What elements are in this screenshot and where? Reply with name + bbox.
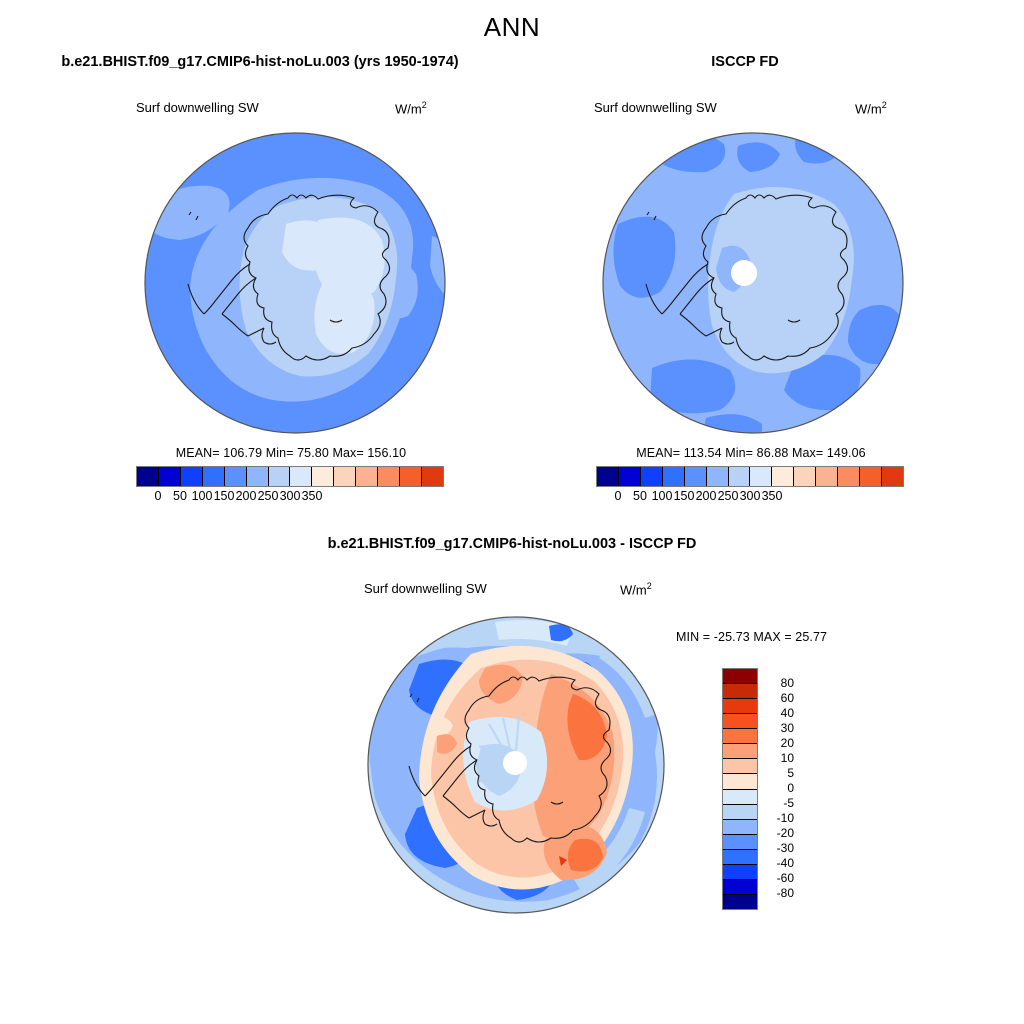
colorbar-swatch-11 [838, 467, 860, 486]
model-units-exponent: 2 [422, 100, 427, 110]
diff-colorbar-tick-2: 40 [764, 706, 794, 720]
model-panel-title: b.e21.BHIST.f09_g17.CMIP6-hist-noLu.003 … [30, 54, 490, 70]
diff-panel-title: b.e21.BHIST.f09_g17.CMIP6-hist-noLu.003 … [182, 536, 842, 552]
diff-colorbar-swatch-0 [723, 669, 757, 684]
colorbar-swatch-11 [378, 467, 400, 486]
colorbar-swatch-5 [247, 467, 269, 486]
diff-colorbar[interactable]: 80604030201050-5-10-20-30-40-60-80 [722, 668, 812, 908]
colorbar-swatch-7 [750, 467, 772, 486]
obs-units-exponent: 2 [882, 100, 887, 110]
colorbar-tick-3: 150 [674, 489, 695, 503]
colorbar-swatch-0 [137, 467, 159, 486]
diff-colorbar-swatch-12 [723, 850, 757, 865]
colorbar-tick-3: 150 [214, 489, 235, 503]
diff-colorbar-swatch-6 [723, 759, 757, 774]
diff-colorbar-swatch-13 [723, 865, 757, 880]
colorbar-tick-7: 350 [302, 489, 323, 503]
diff-colorbar-tick-10: -20 [764, 826, 794, 840]
diff-colorbar-tick-13: -60 [764, 871, 794, 885]
colorbar-tick-4: 200 [696, 489, 717, 503]
colorbar-swatch-9 [794, 467, 816, 486]
colorbar-swatch-1 [619, 467, 641, 486]
diff-pole-data-gap [503, 751, 527, 775]
diff-colorbar-tick-4: 20 [764, 736, 794, 750]
diff-colorbar-tick-3: 30 [764, 721, 794, 735]
diff-colorbar-swatches[interactable] [722, 668, 758, 910]
obs-colorbar-swatches[interactable] [596, 466, 904, 487]
colorbar-swatch-9 [334, 467, 356, 486]
colorbar-swatch-5 [707, 467, 729, 486]
obs-panel-title: ISCCP FD [590, 54, 900, 70]
diff-units-exponent: 2 [647, 581, 652, 591]
diff-colorbar-swatch-15 [723, 895, 757, 909]
main-title: ANN [0, 12, 1024, 43]
model-variable-label: Surf downwelling SW [136, 100, 259, 115]
diff-variable-label: Surf downwelling SW [364, 581, 487, 596]
colorbar-tick-0: 0 [615, 489, 622, 503]
model-colorbar-ticks: 050100150200250300350 [136, 487, 444, 507]
diff-colorbar-tick-11: -30 [764, 841, 794, 855]
model-units-text: W/m [395, 101, 422, 116]
diff-colorbar-swatch-2 [723, 699, 757, 714]
colorbar-swatch-6 [729, 467, 751, 486]
diff-colorbar-swatch-3 [723, 714, 757, 729]
diff-colorbar-ticks: 80604030201050-5-10-20-30-40-60-80 [764, 668, 804, 908]
colorbar-tick-4: 200 [236, 489, 257, 503]
obs-pole-data-gap [731, 260, 757, 286]
diff-colorbar-tick-7: 0 [764, 781, 794, 795]
diff-colorbar-swatch-11 [723, 835, 757, 850]
model-stats: MEAN= 106.79 Min= 75.80 Max= 156.10 [136, 446, 446, 460]
diff-colorbar-tick-8: -5 [764, 796, 794, 810]
model-map [140, 128, 450, 438]
obs-units-text: W/m [855, 101, 882, 116]
diff-stats: MIN = -25.73 MAX = 25.77 [676, 630, 827, 644]
colorbar-tick-6: 300 [280, 489, 301, 503]
colorbar-swatch-8 [772, 467, 794, 486]
colorbar-swatch-10 [356, 467, 378, 486]
diff-colorbar-tick-12: -40 [764, 856, 794, 870]
colorbar-swatch-13 [422, 467, 443, 486]
diff-colorbar-tick-5: 10 [764, 751, 794, 765]
model-colorbar[interactable]: 050100150200250300350 [136, 466, 444, 507]
diff-colorbar-swatch-7 [723, 774, 757, 789]
diff-colorbar-swatch-9 [723, 805, 757, 820]
colorbar-swatch-4 [225, 467, 247, 486]
colorbar-swatch-8 [312, 467, 334, 486]
diff-colorbar-swatch-5 [723, 744, 757, 759]
colorbar-swatch-2 [181, 467, 203, 486]
diff-units-label: W/m2 [620, 581, 652, 597]
diff-colorbar-tick-14: -80 [764, 886, 794, 900]
colorbar-swatch-10 [816, 467, 838, 486]
colorbar-tick-2: 100 [652, 489, 673, 503]
diff-colorbar-swatch-1 [723, 684, 757, 699]
diff-colorbar-swatch-10 [723, 820, 757, 835]
obs-stats: MEAN= 113.54 Min= 86.88 Max= 149.06 [596, 446, 906, 460]
colorbar-tick-5: 250 [718, 489, 739, 503]
diff-units-text: W/m [620, 582, 647, 597]
diff-colorbar-tick-1: 60 [764, 691, 794, 705]
diff-colorbar-swatch-8 [723, 790, 757, 805]
colorbar-swatch-0 [597, 467, 619, 486]
obs-colorbar-ticks: 050100150200250300350 [596, 487, 904, 507]
colorbar-swatch-7 [290, 467, 312, 486]
colorbar-tick-2: 100 [192, 489, 213, 503]
colorbar-tick-7: 350 [762, 489, 783, 503]
colorbar-swatch-3 [663, 467, 685, 486]
colorbar-tick-0: 0 [155, 489, 162, 503]
colorbar-swatch-12 [400, 467, 422, 486]
obs-map [598, 128, 908, 438]
colorbar-tick-5: 250 [258, 489, 279, 503]
diff-colorbar-swatch-14 [723, 880, 757, 895]
colorbar-tick-1: 50 [173, 489, 187, 503]
obs-colorbar[interactable]: 050100150200250300350 [596, 466, 904, 507]
diff-colorbar-tick-9: -10 [764, 811, 794, 825]
obs-variable-label: Surf downwelling SW [594, 100, 717, 115]
colorbar-swatch-2 [641, 467, 663, 486]
colorbar-tick-1: 50 [633, 489, 647, 503]
obs-units-label: W/m2 [855, 100, 887, 116]
colorbar-tick-6: 300 [740, 489, 761, 503]
diff-colorbar-swatch-4 [723, 729, 757, 744]
model-colorbar-swatches[interactable] [136, 466, 444, 487]
colorbar-swatch-1 [159, 467, 181, 486]
colorbar-swatch-4 [685, 467, 707, 486]
colorbar-swatch-3 [203, 467, 225, 486]
colorbar-swatch-13 [882, 467, 903, 486]
diff-map [363, 612, 669, 918]
colorbar-swatch-12 [860, 467, 882, 486]
diff-colorbar-tick-6: 5 [764, 766, 794, 780]
model-units-label: W/m2 [395, 100, 427, 116]
diff-colorbar-tick-0: 80 [764, 676, 794, 690]
colorbar-swatch-6 [269, 467, 291, 486]
